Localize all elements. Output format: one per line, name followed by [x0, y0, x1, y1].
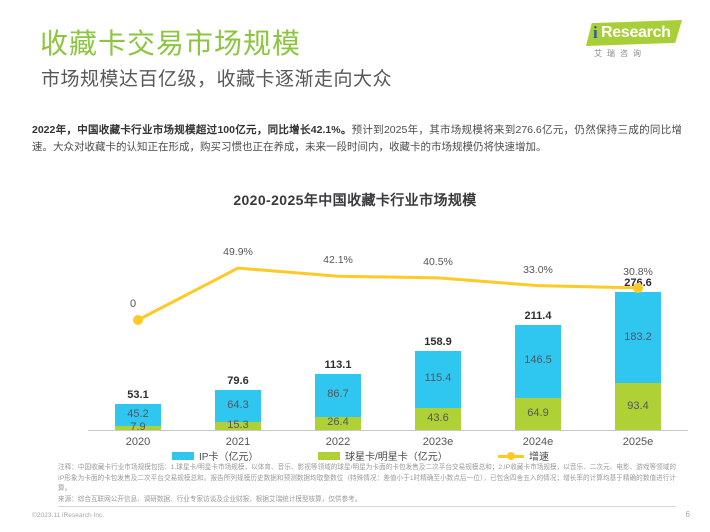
- bar-segment-label-ip: 86.7: [315, 388, 361, 400]
- legend-label: IP卡（亿元）: [199, 448, 258, 463]
- footer-divider: [58, 506, 676, 507]
- legend-item: 球星卡/明星卡（亿元）: [318, 448, 448, 463]
- logo-i-letter: i: [593, 23, 598, 43]
- footnote-source: 来源：综合互联网公开信息、调研数据、行业专家访谈及企业财报，根据艾瑞统计模型核算…: [58, 495, 676, 505]
- bar-segment-ip: 86.7: [315, 374, 361, 417]
- lead-bold: 2022年，中国收藏卡行业市场规模超过100亿元，同比增长42.1%。: [32, 124, 352, 136]
- bar-total-label: 53.1: [103, 389, 173, 401]
- bar-segment-star: 26.4: [315, 417, 361, 430]
- bar-segment-label-star: 26.4: [315, 416, 361, 428]
- bar-segment-label-ip: 115.4: [415, 372, 461, 384]
- bar-total-label: 276.6: [603, 277, 673, 289]
- legend-label: 球星卡/明星卡（亿元）: [345, 448, 448, 463]
- legend-swatch-icon: [318, 452, 340, 460]
- bar-column: 79.664.315.3: [215, 390, 261, 430]
- growth-rate-label: 49.9%: [203, 246, 273, 258]
- logo-research-text: Research: [601, 23, 671, 43]
- chart-x-axis: [88, 430, 688, 431]
- bar-segment-label-ip: 64.3: [215, 399, 261, 411]
- footer-copyright: ©2023.11 iResearch Inc.: [32, 512, 104, 519]
- chart-legend: IP卡（亿元）球星卡/明星卡（亿元）增速: [0, 448, 710, 462]
- logo-badge: i Research: [586, 20, 682, 46]
- chart-title: 2020-2025年中国收藏卡行业市场规模: [0, 190, 710, 210]
- growth-rate-label: 40.5%: [403, 256, 473, 268]
- bar-segment-label-star: 43.6: [415, 412, 461, 424]
- bar-segment-star: 43.6: [415, 408, 461, 430]
- growth-rate-zero-label: 0: [130, 298, 136, 310]
- page-subtitle: 市场规模达百亿级，收藏卡逐渐走向大众: [41, 68, 392, 92]
- x-axis-label: 2022: [303, 436, 373, 448]
- bar-total-label: 79.6: [203, 375, 273, 387]
- bar-segment-star: 7.9: [115, 426, 161, 430]
- bar-segment-star: 64.9: [515, 398, 561, 430]
- legend-item: 增速: [498, 448, 549, 463]
- bar-segment-label-ip: 183.2: [615, 331, 661, 343]
- x-axis-label: 2023e: [403, 436, 473, 448]
- x-axis-label: 2020: [103, 436, 173, 448]
- iresearch-logo: i Research 艾瑞咨询: [586, 20, 682, 64]
- bar-segment-star: 15.3: [215, 422, 261, 430]
- bar-column: 276.6183.293.4: [615, 292, 661, 430]
- legend-item: IP卡（亿元）: [172, 448, 258, 463]
- bar-segment-label-ip: 45.2: [115, 408, 161, 420]
- bar-column: 53.145.27.9: [115, 404, 161, 430]
- bar-column: 158.9115.443.6: [415, 351, 461, 430]
- slide-page: 收藏卡交易市场规模 市场规模达百亿级，收藏卡逐渐走向大众 i Research …: [0, 0, 710, 532]
- logo-chinese-name: 艾瑞咨询: [594, 48, 646, 59]
- footnote-note: 注释：中国收藏卡行业市场规模包括：1.球星卡/明星卡市场规模，以体育、音乐、影视…: [58, 463, 676, 495]
- page-number: 6: [686, 510, 690, 519]
- lead-paragraph: 2022年，中国收藏卡行业市场规模超过100亿元，同比增长42.1%。预计到20…: [32, 122, 682, 156]
- chart-plot-area: 53.145.27.979.664.315.3113.186.726.4158.…: [88, 228, 688, 430]
- bar-total-label: 211.4: [503, 310, 573, 322]
- bar-segment-label-star: 15.3: [215, 419, 261, 431]
- bar-segment-ip: 146.5: [515, 325, 561, 398]
- bar-segment-ip: 64.3: [215, 390, 261, 422]
- legend-line-icon: [498, 452, 524, 460]
- bar-total-label: 158.9: [403, 336, 473, 348]
- growth-rate-label: 33.0%: [503, 264, 573, 276]
- bar-segment-ip: 183.2: [615, 292, 661, 383]
- x-axis-label: 2021: [203, 436, 273, 448]
- bar-column: 113.186.726.4: [315, 374, 361, 430]
- legend-swatch-icon: [172, 452, 194, 460]
- bar-segment-label-star: 7.9: [115, 421, 161, 433]
- bar-total-label: 113.1: [303, 359, 373, 371]
- x-axis-label: 2025e: [603, 436, 673, 448]
- page-title: 收藏卡交易市场规模: [40, 27, 301, 61]
- bar-segment-label-ip: 146.5: [515, 354, 561, 366]
- growth-rate-label: 42.1%: [303, 254, 373, 266]
- bar-segment-ip: 115.4: [415, 351, 461, 409]
- x-axis-label: 2024e: [503, 436, 573, 448]
- bar-segment-label-star: 93.4: [615, 400, 661, 412]
- legend-label: 增速: [529, 448, 549, 463]
- growth-rate-label: 30.8%: [603, 266, 673, 278]
- bar-column: 211.4146.564.9: [515, 325, 561, 430]
- bar-segment-label-star: 64.9: [515, 407, 561, 419]
- bar-segment-star: 93.4: [615, 383, 661, 430]
